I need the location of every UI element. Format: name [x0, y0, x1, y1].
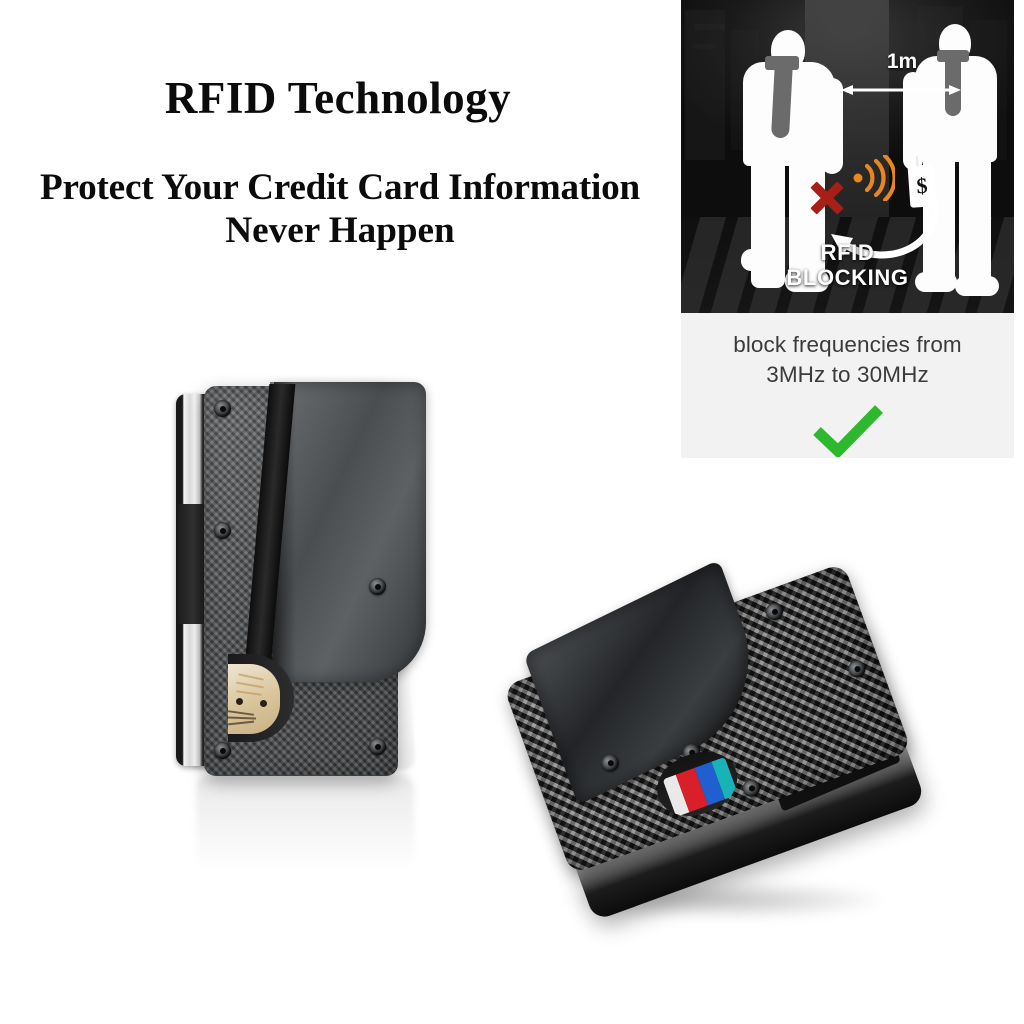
money-clip-angled: [524, 560, 774, 806]
screw: [763, 601, 785, 623]
page-title: RFID Technology: [0, 72, 676, 124]
subtitle-block: Protect Your Credit Card Information Nev…: [0, 166, 680, 252]
peeking-cards: [663, 757, 739, 817]
product-image-canvas: RFID Technology Protect Your Credit Card…: [0, 0, 1024, 1024]
screw: [846, 658, 868, 680]
screw: [214, 742, 231, 759]
screw: [214, 400, 231, 417]
product-photo-left-wallet: [176, 386, 398, 778]
screw: [369, 578, 386, 595]
subtitle-line-2: Never Happen: [3, 209, 676, 252]
frequency-caption: block frequencies from 3MHz to 30MHz: [681, 330, 1014, 390]
screw: [740, 777, 762, 799]
frequency-caption-line-2: 3MHz to 30MHz: [681, 360, 1014, 390]
carbon-fiber-plate: [204, 386, 398, 776]
screw: [214, 522, 231, 539]
subtitle-line-1: Protect Your Credit Card Information: [3, 166, 676, 209]
headline-block: RFID Technology: [0, 72, 676, 124]
frequency-caption-line-1: block frequencies from: [681, 330, 1014, 360]
rfid-blocking-line-1: RFID: [681, 240, 1014, 265]
money-clip: [274, 382, 426, 682]
cat-face-card: [228, 664, 280, 734]
distance-label: 1m: [857, 50, 947, 74]
rfid-info-panel: $ 1m: [681, 0, 1014, 458]
check-icon: [811, 405, 885, 457]
left-wallet-reflection-glow: [196, 776, 414, 872]
rfid-blocking-label: RFID BLOCKING: [681, 240, 1014, 290]
screw: [369, 738, 386, 755]
green-check-container: [681, 405, 1014, 458]
rfid-blocking-line-2: BLOCKING: [681, 265, 1014, 290]
distance-arrow-icon: [841, 84, 961, 96]
rfid-blocking-photo: $ 1m: [681, 0, 1014, 313]
